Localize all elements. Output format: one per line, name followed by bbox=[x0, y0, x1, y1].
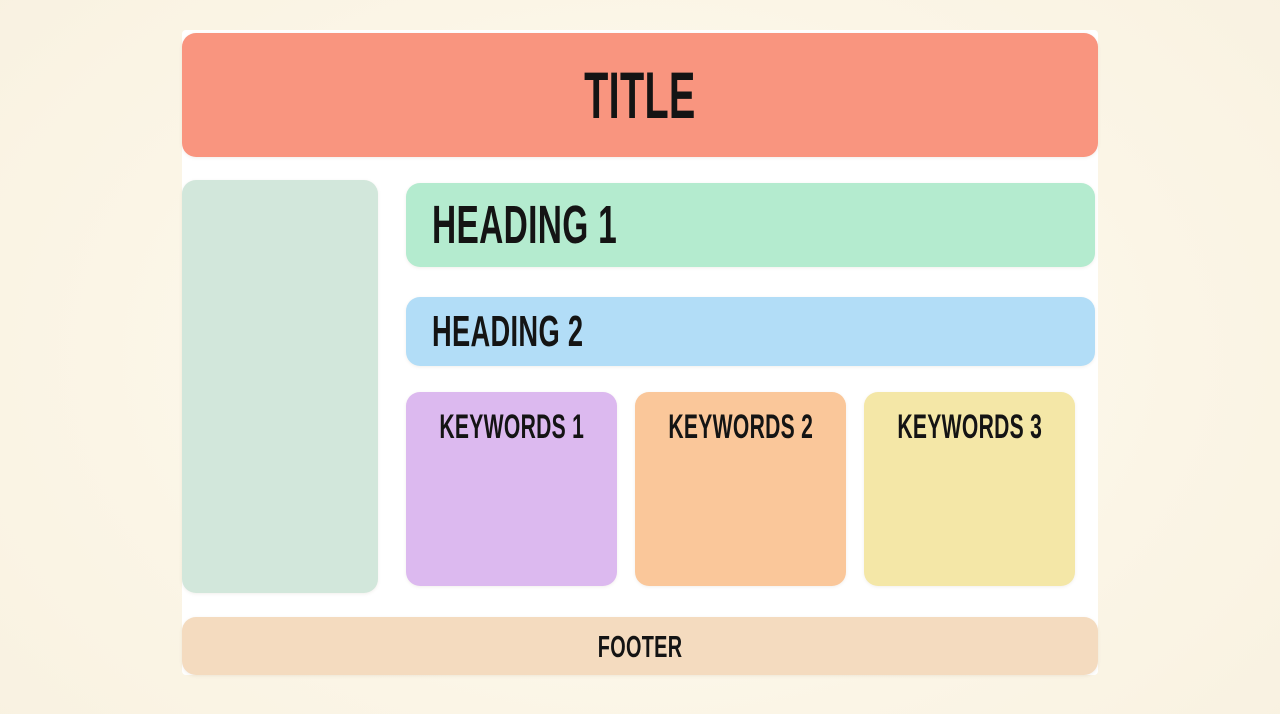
title-block-label: TITLE bbox=[584, 62, 695, 128]
sidebar-block[interactable] bbox=[182, 180, 378, 593]
keywords-card[interactable]: KEYWORDS 2 bbox=[635, 392, 846, 586]
wireframe-stage: TITLE HEADING 1 HEADING 2 KEYWORDS 1 KEY… bbox=[0, 0, 1280, 714]
keywords-card-label: KEYWORDS 1 bbox=[439, 410, 584, 586]
heading-2-label: HEADING 2 bbox=[432, 310, 583, 354]
heading-1-label: HEADING 1 bbox=[432, 198, 617, 252]
heading-2-block[interactable]: HEADING 2 bbox=[406, 297, 1095, 366]
footer-block-label: FOOTER bbox=[598, 631, 683, 662]
footer-block[interactable]: FOOTER bbox=[182, 617, 1098, 675]
title-block[interactable]: TITLE bbox=[182, 33, 1098, 157]
keywords-card[interactable]: KEYWORDS 3 bbox=[864, 392, 1075, 586]
keywords-card-label: KEYWORDS 3 bbox=[897, 410, 1042, 586]
heading-1-block[interactable]: HEADING 1 bbox=[406, 183, 1095, 267]
keywords-card[interactable]: KEYWORDS 1 bbox=[406, 392, 617, 586]
keywords-card-label: KEYWORDS 2 bbox=[668, 410, 813, 586]
